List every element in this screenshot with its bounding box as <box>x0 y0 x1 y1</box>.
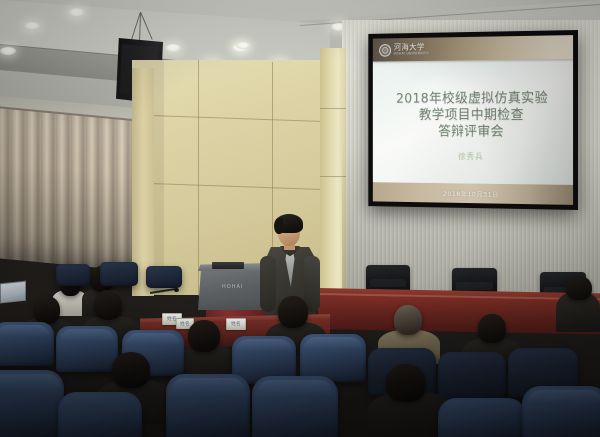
audience-seat <box>58 392 142 437</box>
slide-date: 2018年10月31日 <box>443 188 499 199</box>
audience-head <box>34 296 60 324</box>
dais-chair <box>146 266 182 288</box>
name-placard-3-text: 姓名 <box>180 321 190 327</box>
university-name-en: HOHAI UNIVERSITY <box>394 51 429 55</box>
dais-chair <box>56 264 90 286</box>
ceiling-downlight-icon <box>24 22 40 30</box>
presenter-left-arm <box>260 256 276 312</box>
dais-chair <box>100 262 138 286</box>
slide-title-line-3: 答辩评审会 <box>438 123 504 140</box>
projection-screen-surface: 河海大学 HOHAI UNIVERSITY 2018年校级虚拟仿真实验 教学项目… <box>373 35 573 205</box>
audience-seat <box>300 334 366 382</box>
audience-head <box>94 290 122 320</box>
slide-title-line-1: 2018年校级虚拟仿真实验 <box>396 90 548 107</box>
ceiling-downlight-icon <box>165 44 181 52</box>
slide-body: 2018年校级虚拟仿真实验 教学项目中期检查 答辩评审会 徐秀兵 <box>373 59 573 185</box>
ceiling-downlight-icon <box>68 8 85 17</box>
university-logo: 河海大学 HOHAI UNIVERSITY <box>379 43 429 56</box>
slide-presenter-name: 徐秀兵 <box>458 151 483 162</box>
laptop-screen <box>0 281 26 304</box>
name-placard-2-text: 姓名 <box>231 321 241 327</box>
curtain-shading <box>0 108 148 272</box>
audience-seat <box>252 376 338 437</box>
slide-header-band: 河海大学 HOHAI UNIVERSITY <box>373 35 573 62</box>
audience-seat <box>0 322 54 366</box>
audience-seat <box>438 398 526 437</box>
audience-head <box>278 296 308 328</box>
university-logo-text: 河海大学 HOHAI UNIVERSITY <box>394 43 429 55</box>
audience-head <box>112 352 150 388</box>
audience-seat <box>56 326 118 372</box>
ceiling-downlight-icon <box>236 42 250 49</box>
projection-screen: 河海大学 HOHAI UNIVERSITY 2018年校级虚拟仿真实验 教学项目… <box>368 30 578 210</box>
audience-head <box>386 364 426 402</box>
audience-seat <box>0 370 64 437</box>
podium-brand-text: HOHAI <box>222 284 243 290</box>
ceiling-downlight-icon <box>0 47 16 55</box>
presenter-hair-side <box>274 218 283 234</box>
conference-photo: 河海大学 HOHAI UNIVERSITY 2018年校级虚拟仿真实验 教学项目… <box>0 0 600 437</box>
microphone-icon <box>174 288 179 292</box>
audience-seat <box>522 386 600 437</box>
wood-panel-seam <box>198 60 199 296</box>
slide-title-line-2: 教学项目中期检查 <box>419 107 524 124</box>
university-seal-icon <box>379 44 391 57</box>
audience-seat <box>438 352 506 400</box>
audience-head <box>478 314 506 343</box>
podium-monitor-icon <box>212 262 244 269</box>
audience-seat <box>166 374 250 437</box>
audience-head <box>188 320 220 352</box>
audience-head <box>394 305 422 335</box>
name-placard-2: 姓名 <box>226 318 246 330</box>
presentation-slide: 河海大学 HOHAI UNIVERSITY 2018年校级虚拟仿真实验 教学项目… <box>373 35 573 205</box>
slide-footer-band: 2018年10月31日 <box>373 182 573 205</box>
audience-head <box>566 276 592 300</box>
panel-chair-1 <box>366 265 410 291</box>
